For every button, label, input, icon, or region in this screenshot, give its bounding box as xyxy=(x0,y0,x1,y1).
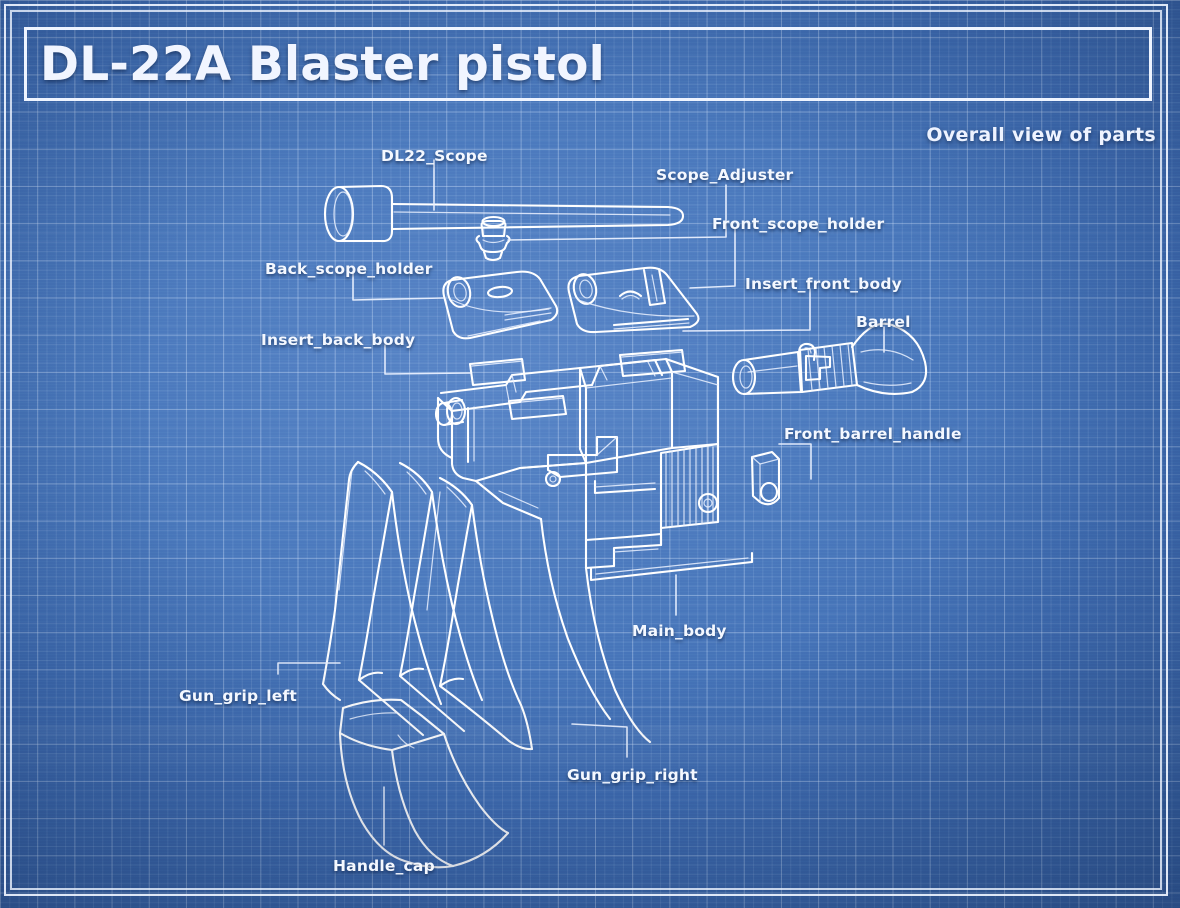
page-subtitle: Overall view of parts xyxy=(926,124,1156,146)
part-label-front-scope-holder: Front_scope_holder xyxy=(712,215,884,233)
part-label-front-barrel-handle: Front_barrel_handle xyxy=(784,425,962,443)
blueprint-page: DL-22A Blaster pistol Overall view of pa… xyxy=(0,0,1180,908)
part-label-dl22-scope: DL22_Scope xyxy=(381,147,488,165)
part-label-gun-grip-right: Gun_grip_right xyxy=(567,766,698,784)
part-label-barrel: Barrel xyxy=(856,313,911,331)
part-label-handle-cap: Handle_cap xyxy=(333,857,435,875)
part-label-insert-front-body: Insert_front_body xyxy=(745,275,902,293)
part-label-scope-adjuster: Scope_Adjuster xyxy=(656,166,793,184)
page-title: DL-22A Blaster pistol xyxy=(40,28,1140,100)
part-label-main-body: Main_body xyxy=(632,622,727,640)
part-label-insert-back-body: Insert_back_body xyxy=(261,331,415,349)
part-label-gun-grip-left: Gun_grip_left xyxy=(179,687,297,705)
part-label-back-scope-holder: Back_scope_holder xyxy=(265,260,433,278)
